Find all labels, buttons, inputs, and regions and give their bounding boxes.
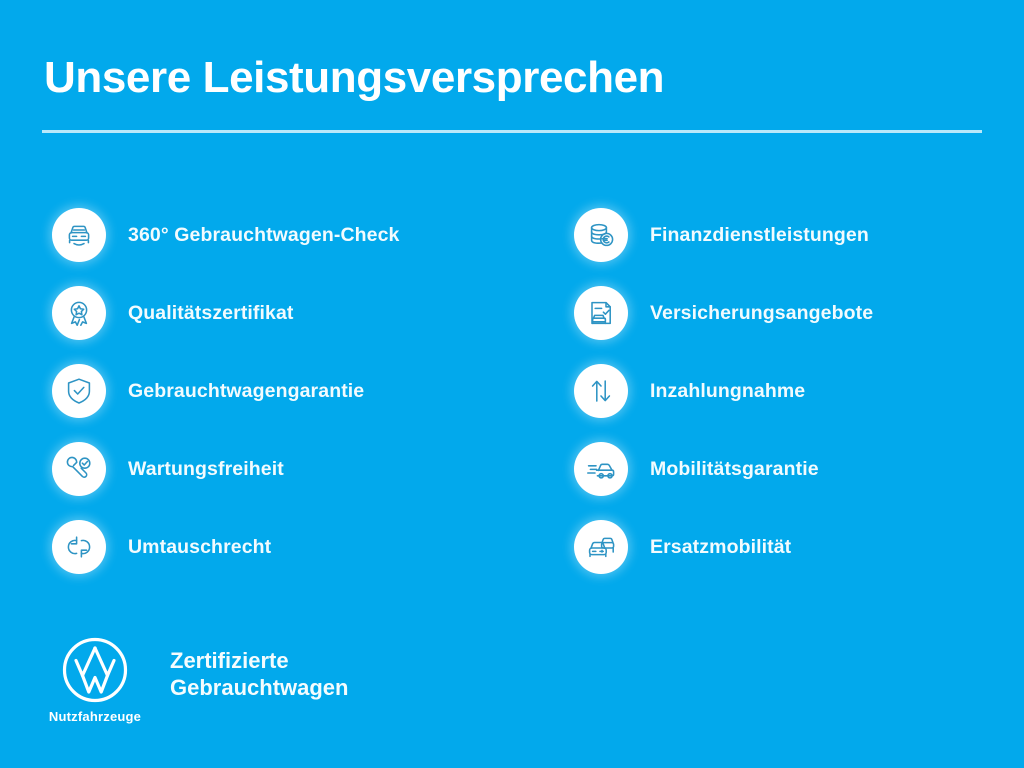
promise-label: Versicherungsangebote [650,302,873,325]
promise-label: Mobilitätsgarantie [650,458,819,481]
brand-subtitle: Nutzfahrzeuge [49,709,141,724]
promise-item-versicherungsangebote: Versicherungsangebote [574,274,1014,352]
car-motion-icon [574,442,628,496]
promise-label: 360° Gebrauchtwagen-Check [128,224,399,247]
brand-block: Nutzfahrzeuge [52,634,138,724]
promise-item-wartungsfreiheit: Wartungsfreiheit [52,430,522,508]
footer-tagline-line1: Zertifizierte [170,648,348,675]
promise-label: Ersatzmobilität [650,536,791,559]
shield-check-icon [52,364,106,418]
car-front-check-icon [52,208,106,262]
footer-tagline: Zertifizierte Gebrauchtwagen [170,648,348,702]
promise-column-right: Finanzdienstleistungen Versicherungsange… [574,196,1014,586]
exchange-arrows-icon [52,520,106,574]
promise-item-mobilitaetsgarantie: Mobilitätsgarantie [574,430,1014,508]
document-car-icon [574,286,628,340]
vw-roundel-logo [59,634,131,706]
coins-euro-icon [574,208,628,262]
promise-label: Finanzdienstleistungen [650,224,869,247]
arrows-up-down-icon [574,364,628,418]
page-title: Unsere Leistungsversprechen [44,54,664,102]
promise-item-gebrauchtwagengarantie: Gebrauchtwagengarantie [52,352,522,430]
promise-label: Umtauschrecht [128,536,271,559]
promise-item-umtauschrecht: Umtauschrecht [52,508,522,586]
promise-label: Gebrauchtwagengarantie [128,380,364,403]
title-divider [42,130,982,133]
promise-item-qualitaetszertifikat: Qualitätszertifikat [52,274,522,352]
wrench-check-icon [52,442,106,496]
promise-column-left: 360° Gebrauchtwagen-Check Qualitätszerti… [52,196,522,586]
promise-item-ersatzmobilitaet: Ersatzmobilität [574,508,1014,586]
footer-tagline-line2: Gebrauchtwagen [170,675,348,702]
award-rosette-icon [52,286,106,340]
two-cars-icon [574,520,628,574]
promise-item-inzahlungnahme: Inzahlungnahme [574,352,1014,430]
promise-label: Inzahlungnahme [650,380,805,403]
promise-label: Qualitätszertifikat [128,302,294,325]
footer: Nutzfahrzeuge Zertifizierte Gebrauchtwag… [52,634,348,724]
promise-item-finanzdienstleistungen: Finanzdienstleistungen [574,196,1014,274]
slide-root: Unsere Leistungsversprechen 360° Gebrauc… [0,0,1024,768]
promise-item-360-check: 360° Gebrauchtwagen-Check [52,196,522,274]
promise-label: Wartungsfreiheit [128,458,284,481]
